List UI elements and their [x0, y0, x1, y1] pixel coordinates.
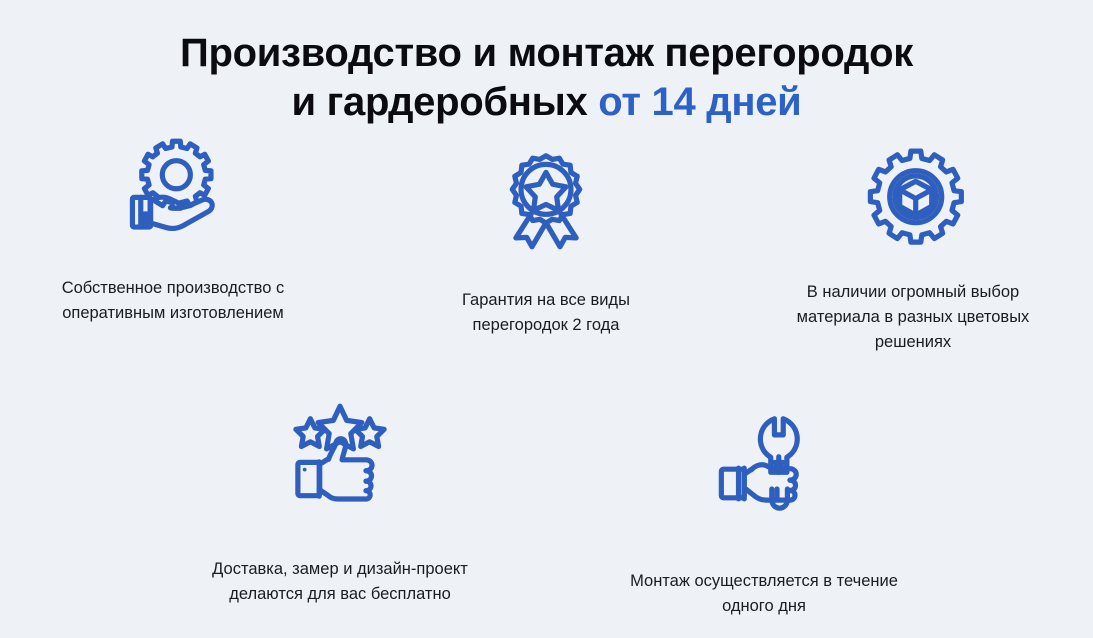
hand-holding-gear-icon: [114, 128, 232, 246]
page-title-line-1: Производство и монтаж перегородок: [180, 31, 913, 75]
feature-caption: Монтаж осуществляется в течение одного д…: [629, 569, 899, 619]
feature-caption: В наличии огромный выбор материала в раз…: [763, 280, 1063, 355]
hand-holding-wrench-icon: [705, 405, 823, 523]
feature-item-material-choice: В наличии огромный выбор материала в раз…: [728, 128, 1092, 355]
feature-item-warranty: Гарантия на все виды перегородок 2 года: [364, 128, 728, 338]
promo-page: Производство и монтаж перегородок и гард…: [0, 0, 1093, 638]
gear-cube-icon: [854, 140, 972, 258]
page-title-highlight: от 14 дней: [598, 80, 801, 124]
feature-item-one-day-install: Монтаж осуществляется в течение одного д…: [582, 393, 946, 619]
feature-row-1: Собственное производство с оперативным и…: [0, 128, 1093, 355]
feature-caption: Собственное производство с оперативным и…: [18, 276, 328, 326]
feature-item-free-services: Доставка, замер и дизайн-проект делаются…: [158, 393, 522, 619]
thumbs-up-stars-icon: [281, 393, 399, 511]
feature-item-own-production: Собственное производство с оперативным и…: [0, 128, 364, 326]
feature-caption: Доставка, замер и дизайн-проект делаются…: [205, 557, 475, 607]
feature-row-2: Доставка, замер и дизайн-проект делаются…: [0, 393, 1093, 619]
award-ribbon-star-icon: [487, 142, 605, 260]
page-title-line-2-plain: и гардеробных: [292, 80, 599, 124]
feature-caption: Гарантия на все виды перегородок 2 года: [421, 288, 671, 338]
feature-grid: Собственное производство с оперативным и…: [0, 128, 1093, 619]
page-title: Производство и монтаж перегородок и гард…: [0, 29, 1093, 127]
